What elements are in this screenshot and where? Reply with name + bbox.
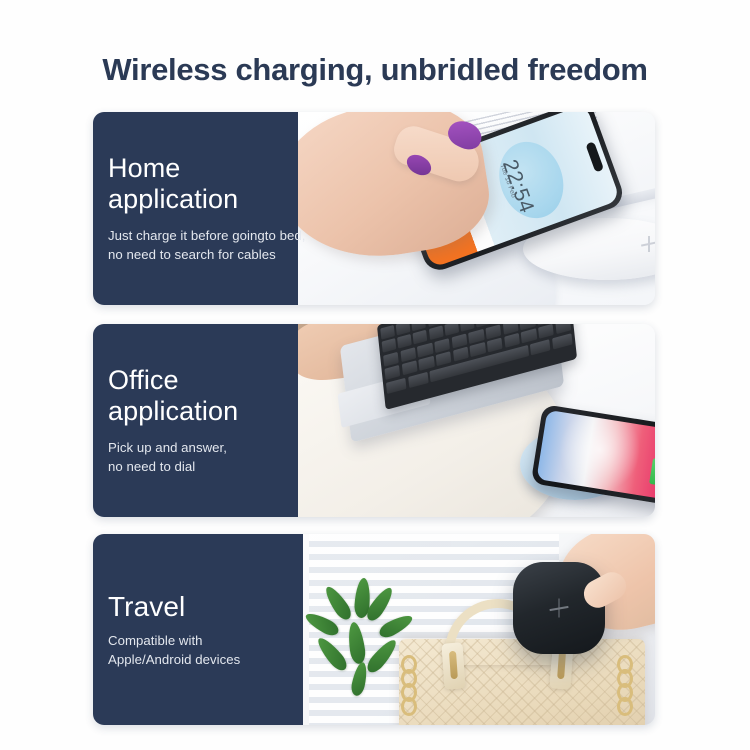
feature-card-home-body-line2: no need to search for cables — [108, 245, 298, 264]
feature-card-travel-body-line1: Compatible with — [108, 631, 303, 650]
feature-card-home-text-panel: Home application Just charge it before g… — [93, 112, 298, 305]
feature-card-home-body: Just charge it before goingto bed, no ne… — [108, 226, 298, 264]
page-headline: Wireless charging, unbridled freedom — [0, 52, 750, 88]
plant-leaf — [322, 583, 355, 622]
black-wireless-charging-pad — [513, 562, 605, 654]
feature-card-office-text-panel: Office application Pick up and answer, n… — [93, 324, 298, 517]
feature-card-office-photo — [298, 324, 655, 517]
keyboard-key — [417, 342, 433, 357]
charger-plus-logo-icon — [550, 599, 569, 618]
plant-leaf — [364, 636, 400, 676]
feature-card-travel-body: Compatible with Apple/Android devices — [108, 631, 303, 669]
plant-leaf — [377, 611, 415, 640]
handbag-clip-left — [441, 642, 465, 689]
feature-card-office-body-line2: no need to dial — [108, 457, 298, 476]
keyboard-key — [434, 338, 450, 353]
keyboard-key — [436, 351, 452, 366]
keyboard-key — [380, 325, 395, 340]
feature-card-office-body-line1: Pick up and answer, — [108, 438, 298, 457]
feature-card-office-body: Pick up and answer, no need to dial — [108, 438, 298, 476]
keyboard-key — [521, 328, 537, 343]
keyboard-key — [485, 324, 501, 339]
keyboard-key — [385, 365, 401, 380]
chain-link — [401, 697, 417, 716]
battery-indicator — [649, 458, 655, 486]
feature-card-travel-photo — [303, 534, 655, 725]
keyboard-key — [453, 347, 469, 362]
keyboard-key — [487, 338, 503, 353]
feature-card-home-title-line1: Home — [108, 153, 298, 184]
plant-leaf — [346, 621, 367, 665]
keyboard-key — [429, 326, 444, 341]
handbag-chain-left — [401, 655, 419, 725]
product-feature-page: Wireless charging, unbridled freedom Hom… — [0, 0, 750, 750]
keyboard-key — [402, 360, 418, 375]
charger-plus-logo-icon — [641, 236, 655, 252]
keyboard-key — [504, 333, 520, 348]
keyboard-key — [451, 333, 467, 348]
keyboard-key — [397, 334, 412, 349]
feature-card-home[interactable]: Home application Just charge it before g… — [93, 112, 655, 305]
keyboard-key — [444, 324, 459, 336]
keyboard-key — [552, 333, 573, 349]
handbag-chain-right — [617, 655, 635, 725]
plant-leaf — [303, 609, 341, 638]
feature-card-travel-title-line1: Travel — [108, 591, 303, 622]
feature-card-office-title-line1: Office — [108, 365, 298, 396]
keyboard-key — [468, 329, 484, 344]
keyboard-key — [386, 377, 407, 393]
keyboard-key — [538, 324, 554, 339]
feature-card-home-body-line1: Just charge it before goingto bed, — [108, 226, 298, 245]
feature-card-travel-text-panel: Travel Compatible with Apple/Android dev… — [93, 534, 303, 725]
feature-card-office[interactable]: Office application Pick up and answer, n… — [93, 324, 655, 517]
chain-link — [617, 697, 633, 716]
keyboard-key — [400, 347, 416, 362]
feature-card-travel-body-line2: Apple/Android devices — [108, 650, 303, 669]
keyboard-key — [470, 342, 486, 357]
feature-card-home-title-line2: application — [108, 184, 298, 215]
feature-card-travel-title: Travel — [108, 591, 303, 622]
plant-leaf — [314, 634, 350, 674]
keyboard-key — [413, 330, 428, 345]
keyboard-key — [382, 338, 397, 353]
keyboard-key — [408, 371, 429, 387]
feature-card-travel[interactable]: Travel Compatible with Apple/Android dev… — [93, 534, 655, 725]
keyboard-key — [383, 352, 399, 367]
feature-card-home-photo: Tue 18 Feb 22:54 — [298, 112, 655, 305]
feature-card-office-title: Office application — [108, 365, 298, 427]
feature-card-office-title-line2: application — [108, 396, 298, 427]
keyboard-key — [530, 339, 551, 355]
feature-card-home-title: Home application — [108, 153, 298, 215]
keyboard-key — [419, 356, 435, 371]
